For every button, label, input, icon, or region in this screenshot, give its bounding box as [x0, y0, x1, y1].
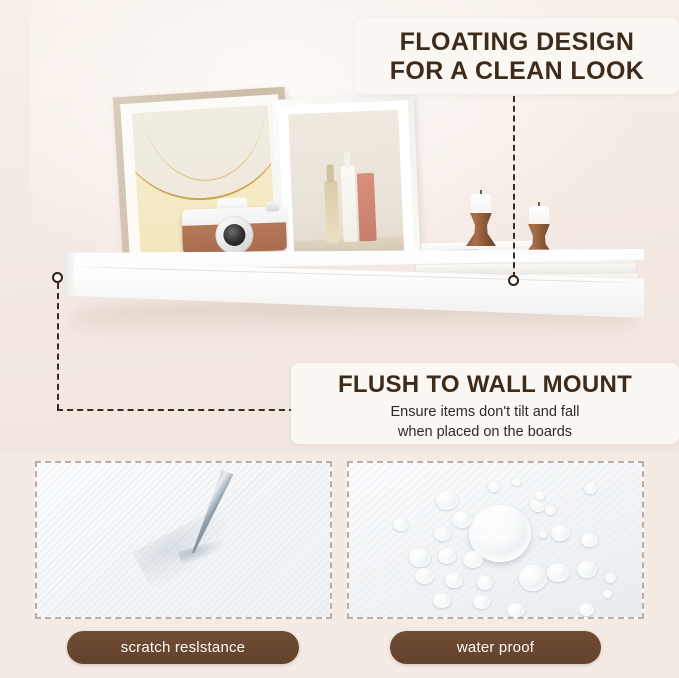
water-droplet	[577, 561, 597, 578]
badge-label: scratch reslstance	[121, 639, 245, 656]
water-droplet	[452, 511, 472, 528]
water-droplet	[473, 595, 490, 609]
water-droplet	[507, 603, 525, 617]
callout-line-top	[513, 96, 515, 278]
flush-mount-subtext: Ensure items don't tilt and fall when pl…	[305, 403, 665, 441]
water-droplet	[409, 548, 431, 567]
water-droplet	[551, 525, 570, 541]
callout-dot-bottom	[52, 272, 63, 283]
callout-line-bottom-horizontal	[57, 409, 295, 411]
heading-line-2: FOR A CLEAN LOOK	[390, 57, 645, 85]
water-droplet	[584, 483, 597, 494]
callout-dot-top	[508, 275, 519, 286]
water-droplet	[438, 548, 456, 564]
water-droplet	[512, 478, 521, 486]
heading-line-1: FLOATING DESIGN	[400, 28, 635, 56]
water-droplet	[415, 568, 434, 584]
flush-mount-heading: FLUSH TO WALL MOUNT	[305, 372, 665, 398]
floating-design-heading: FLOATING DESIGN FOR A CLEAN LOOK	[355, 28, 679, 87]
feature-card-scratch-resistance	[35, 461, 332, 619]
subtext-line-2: when placed on the boards	[398, 424, 572, 440]
water-droplet	[535, 491, 545, 500]
water-droplet	[477, 576, 493, 590]
water-droplet	[393, 518, 409, 531]
badge-water-proof: water proof	[390, 631, 601, 664]
water-droplet	[539, 531, 547, 538]
water-droplet	[433, 593, 451, 608]
shelf-left-end-cap	[62, 251, 74, 299]
water-droplet	[547, 563, 569, 582]
water-droplet	[579, 603, 594, 616]
water-droplet	[581, 533, 598, 547]
water-droplet	[436, 491, 458, 510]
badge-scratch-resistance: scratch reslstance	[67, 631, 299, 664]
badge-label: water proof	[457, 639, 534, 656]
callout-panel-top: FLOATING DESIGN FOR A CLEAN LOOK	[355, 18, 679, 94]
water-droplet	[463, 551, 483, 568]
water-droplet	[545, 505, 556, 515]
water-droplet	[603, 590, 612, 598]
callout-line-bottom-vertical	[57, 283, 59, 410]
product-feature-infographic: FLOATING DESIGN FOR A CLEAN LOOK FLUSH T…	[0, 0, 679, 678]
water-droplet	[434, 527, 451, 541]
subtext-line-1: Ensure items don't tilt and fall	[391, 404, 580, 420]
water-droplet	[519, 565, 547, 591]
water-droplet	[488, 481, 500, 492]
water-droplet	[445, 573, 463, 588]
water-droplet	[605, 573, 616, 583]
callout-panel-bottom: FLUSH TO WALL MOUNT Ensure items don't t…	[291, 363, 679, 444]
feature-card-water-proof	[347, 461, 644, 619]
